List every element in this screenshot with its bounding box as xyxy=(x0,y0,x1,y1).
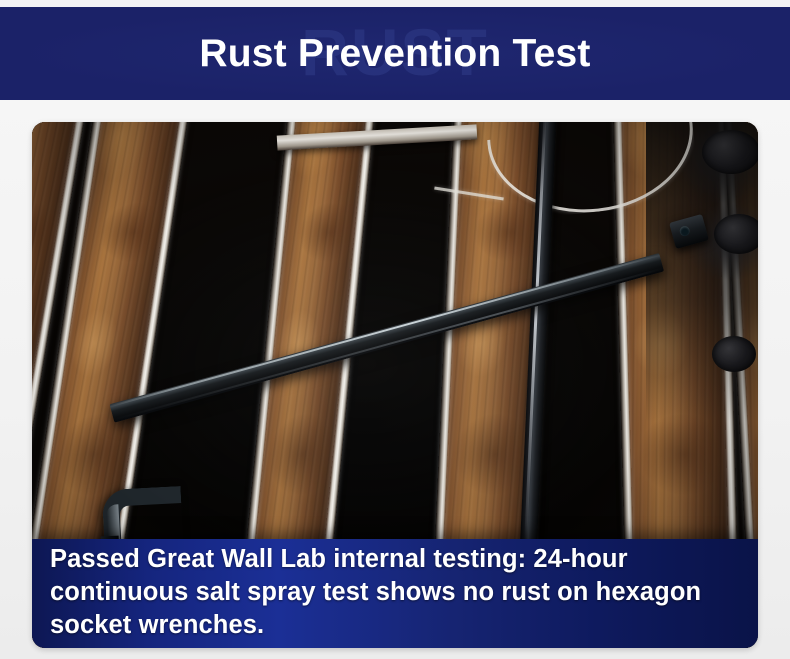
photo-card: Passed Great Wall Lab internal testing: … xyxy=(32,122,758,648)
photo-caption-text: Passed Great Wall Lab internal testing: … xyxy=(32,543,758,642)
hex-key-hang-hole xyxy=(679,225,691,237)
page-root: RUST Rust Prevention Test xyxy=(0,0,790,659)
roller xyxy=(714,214,758,254)
roller xyxy=(712,336,756,372)
photo-caption-bar: Passed Great Wall Lab internal testing: … xyxy=(32,539,758,648)
top-strip xyxy=(0,0,790,7)
roller xyxy=(702,130,758,174)
header-banner: RUST Rust Prevention Test xyxy=(0,7,790,100)
page-title: Rust Prevention Test xyxy=(0,7,790,100)
